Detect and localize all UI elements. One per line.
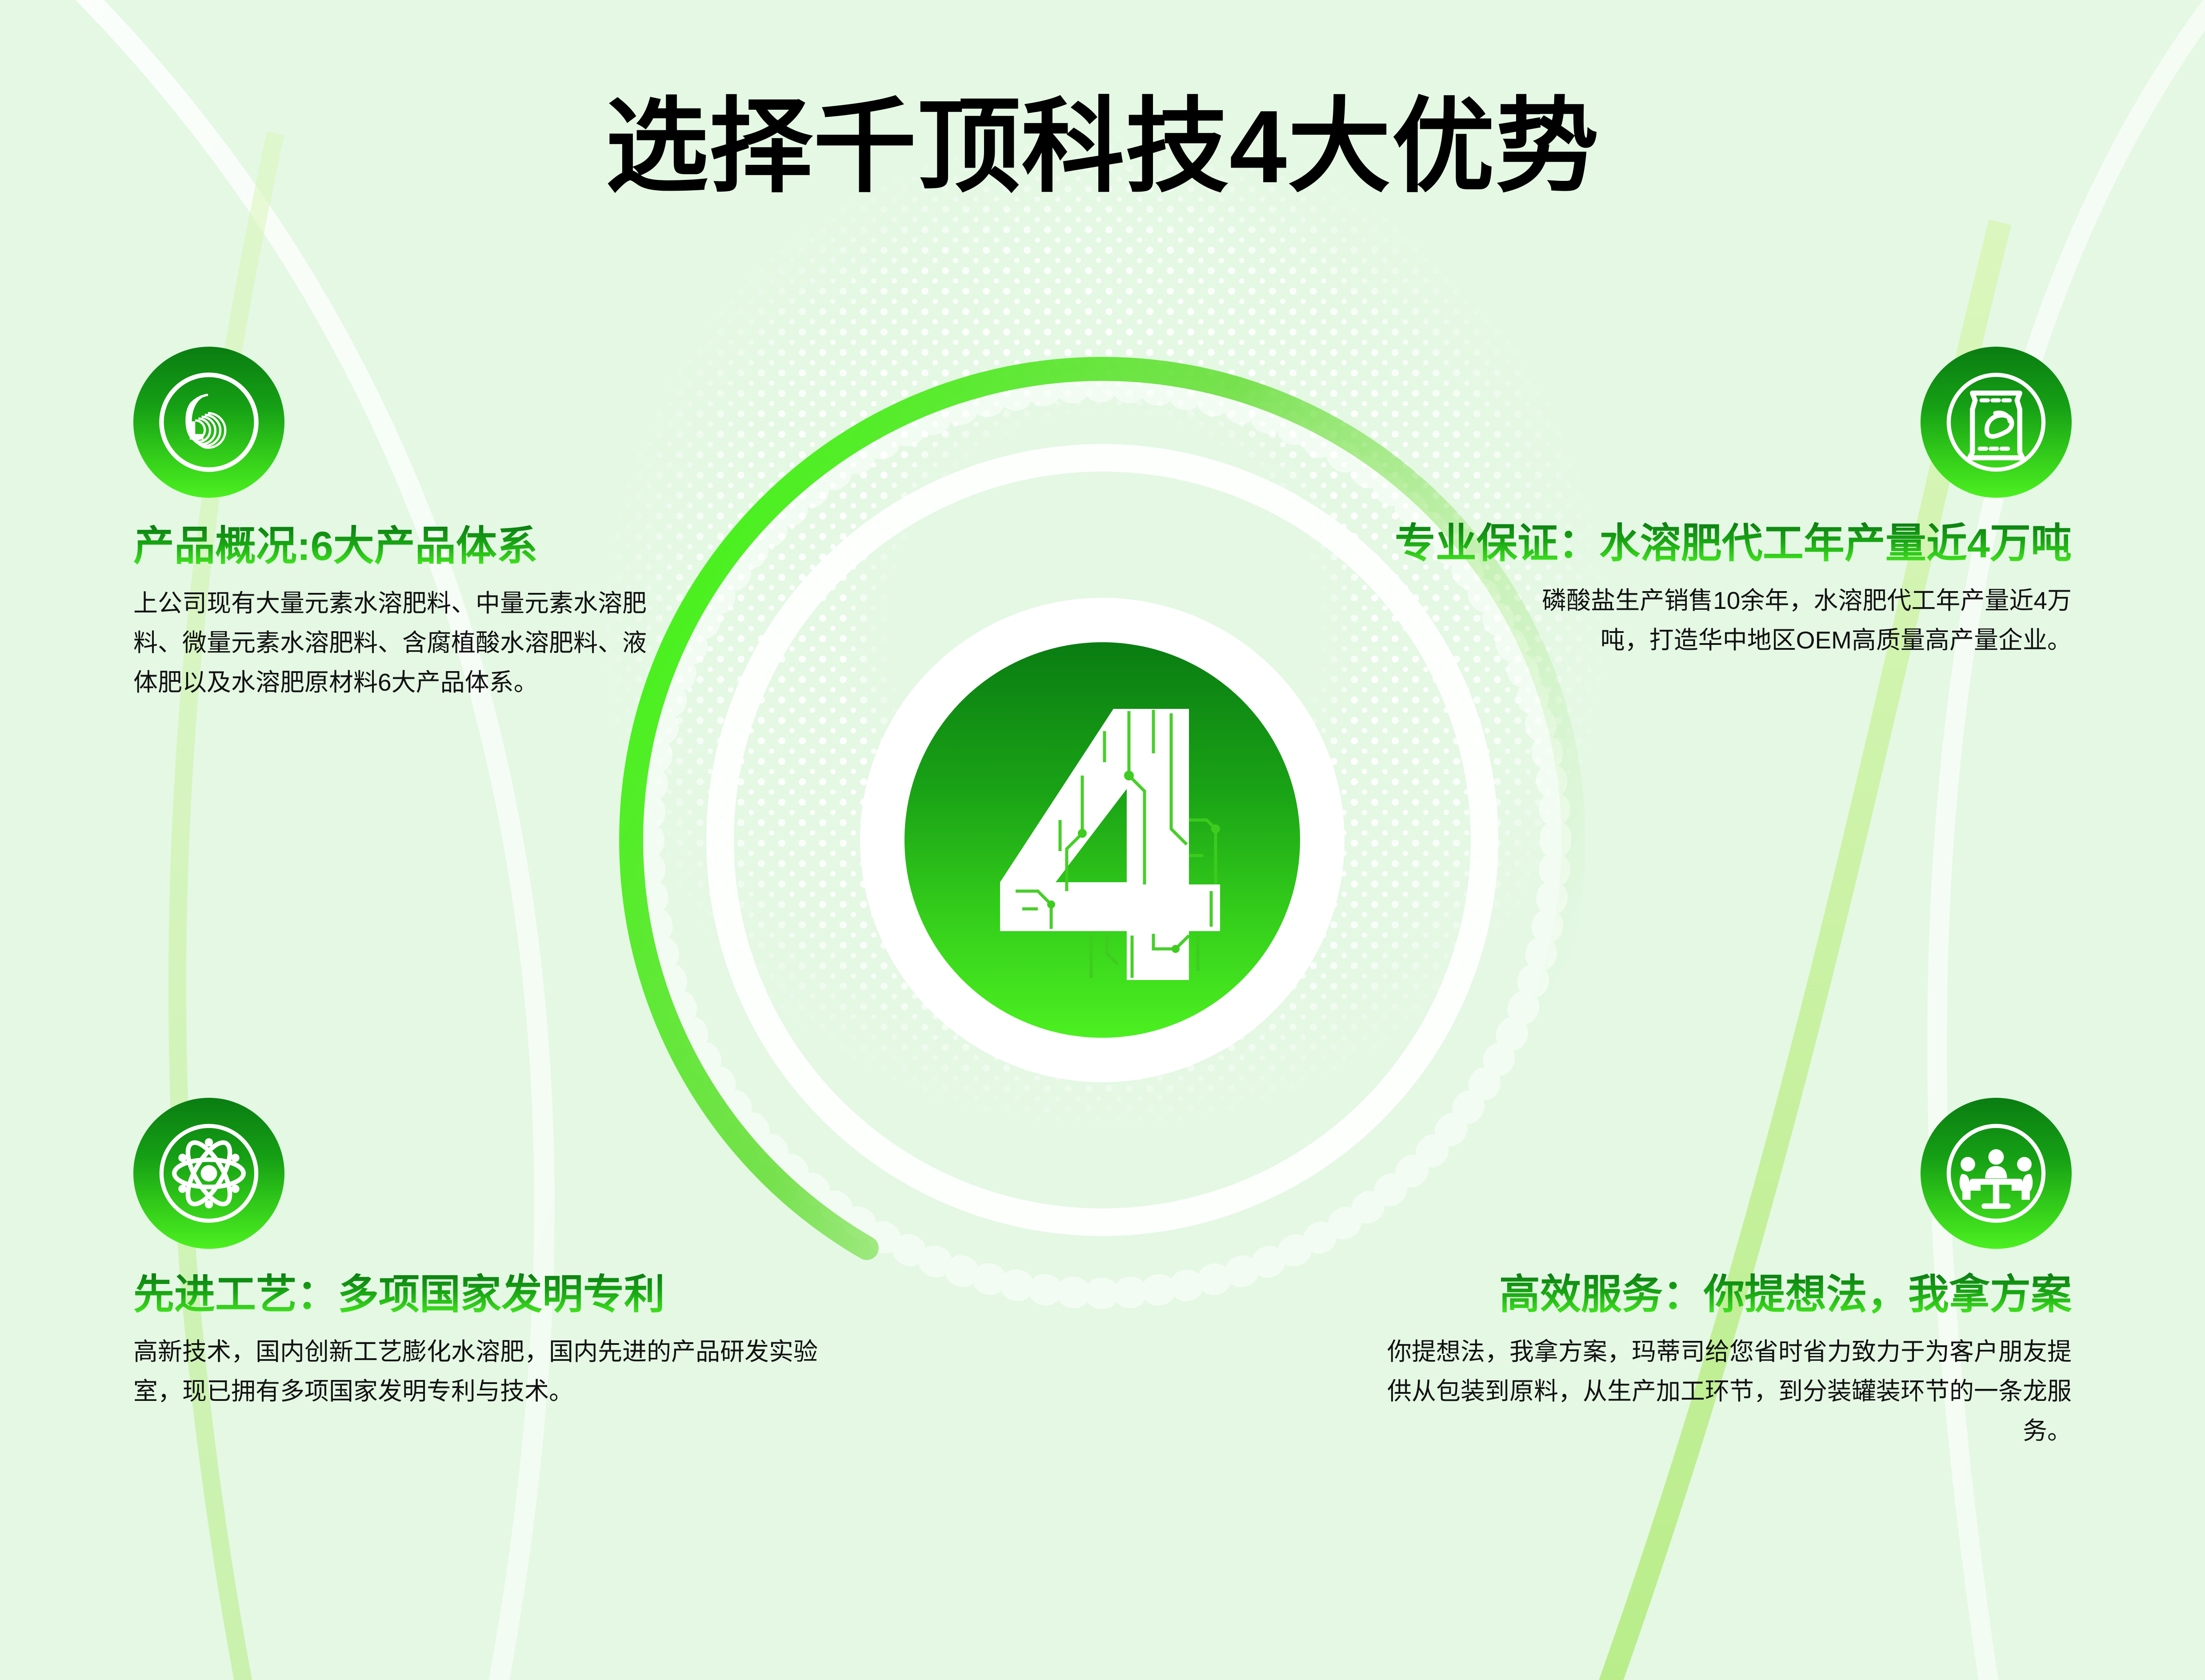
atom-glyph — [154, 1119, 264, 1228]
advantage-body-top-right: 磷酸盐生产销售10余年，水溶肥代工年产量近4万吨，打造华中地区OEM高质量高产量… — [1538, 581, 2072, 660]
advantage-heading-top-right: 专业保证：水溶肥代工年产量近4万吨 — [1187, 521, 2072, 567]
meeting-table-people-icon — [1921, 1098, 2072, 1249]
fertilizer-bag-glyph — [1941, 368, 2051, 477]
advantage-heading-top-left: 产品概况:6大产品体系 — [133, 524, 724, 569]
advantage-card-bottom-left: 先进工艺：多项国家发明专利 高新技术，国内创新工艺膨化水溶肥，国内先进的产品研发… — [133, 1098, 862, 1411]
center-number-four-icon — [904, 642, 1300, 1038]
center-gradient-disc — [904, 642, 1300, 1038]
number-six-rings-icon — [133, 347, 284, 498]
meeting-people-glyph — [1941, 1119, 2051, 1228]
advantage-body-bottom-right: 你提想法，我拿方案，玛蒂司给您省时省力致力于为客户朋友提供从包装到原料，从生产加… — [1369, 1332, 2072, 1451]
advantage-card-top-left: 产品概况:6大产品体系 上公司现有大量元素水溶肥料、中量元素水溶肥料、微量元素水… — [133, 347, 724, 702]
page-title: 选择千顶科技4大优势 — [0, 96, 2205, 199]
advantage-heading-bottom-left: 先进工艺：多项国家发明专利 — [133, 1272, 862, 1318]
atom-icon — [133, 1098, 284, 1249]
center-emblem — [847, 584, 1358, 1096]
advantage-body-top-left: 上公司现有大量元素水溶肥料、中量元素水溶肥料、微量元素水溶肥料、含腐植酸水溶肥料… — [133, 584, 658, 702]
fertilizer-bag-icon — [1921, 347, 2072, 498]
advantage-card-top-right: 专业保证：水溶肥代工年产量近4万吨 磷酸盐生产销售10余年，水溶肥代工年产量近4… — [1187, 347, 2072, 660]
six-rings-glyph — [154, 368, 264, 477]
advantage-body-bottom-left: 高新技术，国内创新工艺膨化水溶肥，国内先进的产品研发实验室，现已拥有多项国家发明… — [133, 1332, 862, 1411]
advantage-heading-bottom-right: 高效服务：你提想法，我拿方案 — [1289, 1272, 2072, 1318]
advantage-card-bottom-right: 高效服务：你提想法，我拿方案 你提想法，我拿方案，玛蒂司给您省时省力致力于为客户… — [1289, 1098, 2072, 1451]
decorative-white-arc-left — [0, 0, 544, 1680]
